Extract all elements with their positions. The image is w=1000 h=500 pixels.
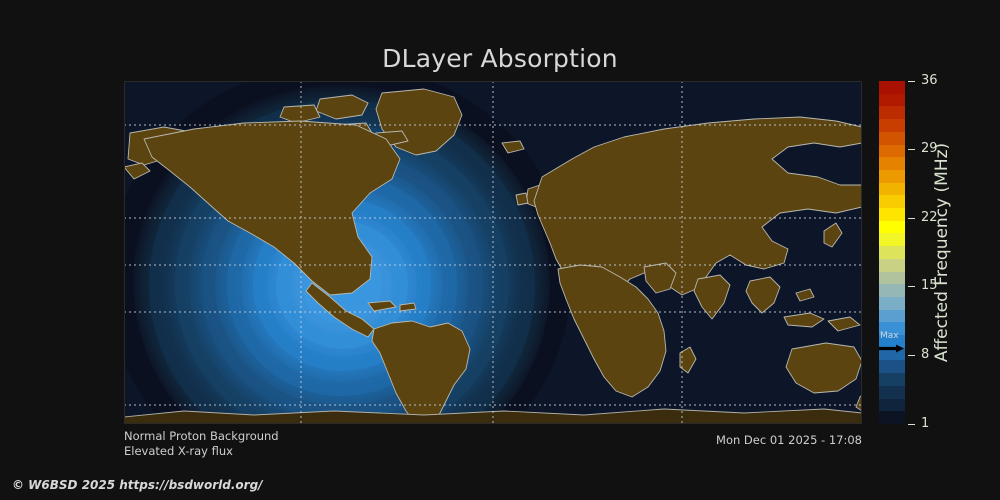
tick-mark <box>908 355 915 356</box>
colorbar-band-22 <box>879 132 905 145</box>
colorbar-band-21 <box>879 145 905 158</box>
colorbar-band-24 <box>879 106 905 119</box>
app-root: DLayer Absorption <box>0 0 1000 500</box>
timestamp: Mon Dec 01 2025 - 17:08 <box>716 433 862 447</box>
colorbar-band-20 <box>879 157 905 170</box>
tick-mark <box>908 286 915 287</box>
colorbar-band-14 <box>879 233 905 246</box>
tick-mark <box>908 149 915 150</box>
status-line-proton: Normal Proton Background <box>124 429 279 444</box>
world-map[interactable] <box>124 81 862 424</box>
colorbar-band-25 <box>879 94 905 107</box>
colorbar-band-13 <box>879 246 905 259</box>
copyright-notice: © W6BSD 2025 https://bsdworld.org/ <box>12 478 263 492</box>
colorbar-band-1 <box>879 399 905 412</box>
colorbar-band-23 <box>879 119 905 132</box>
colorbar-gradient <box>879 81 905 424</box>
map-canvas <box>124 81 862 424</box>
colorbar-band-11 <box>879 272 905 285</box>
page-title: DLayer Absorption <box>0 44 1000 73</box>
colorbar-band-6 <box>879 335 905 348</box>
tick-mark <box>908 424 915 425</box>
colorbar-band-0 <box>879 411 905 424</box>
colorbar-band-7 <box>879 322 905 335</box>
colorbar-band-2 <box>879 386 905 399</box>
colorbar-band-18 <box>879 183 905 196</box>
colorbar-band-4 <box>879 360 905 373</box>
colorbar-band-3 <box>879 373 905 386</box>
colorbar-axis-label: Affected Frequency (MHz) <box>929 81 955 424</box>
tick-mark <box>908 218 915 219</box>
colorbar-band-12 <box>879 259 905 272</box>
status-text: Normal Proton Background Elevated X-ray … <box>124 429 279 459</box>
status-line-xray: Elevated X-ray flux <box>124 444 279 459</box>
colorbar-band-19 <box>879 170 905 183</box>
colorbar-band-10 <box>879 284 905 297</box>
colorbar-band-16 <box>879 208 905 221</box>
colorbar[interactable]: Max 1815222936 <box>879 81 905 424</box>
colorbar-band-8 <box>879 310 905 323</box>
colorbar-band-26 <box>879 81 905 94</box>
colorbar-band-17 <box>879 195 905 208</box>
colorbar-band-5 <box>879 348 905 361</box>
colorbar-band-9 <box>879 297 905 310</box>
tick-mark <box>908 81 915 82</box>
colorbar-band-15 <box>879 221 905 234</box>
